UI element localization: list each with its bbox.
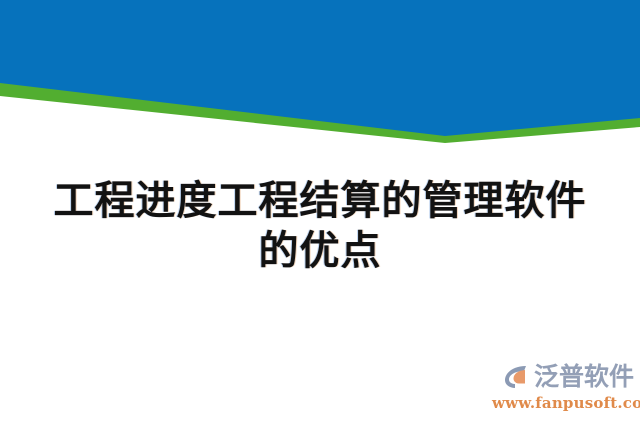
page-title-line-1: 工程进度工程结算的管理软件 [0,176,640,226]
banner-blue-chevron [0,0,640,136]
brand-watermark: 泛普软件 www.fanpusoft.com [492,361,634,417]
page-title-line-2: 的优点 [0,226,640,276]
slide-canvas: 工程进度工程结算的管理软件 的优点 泛普软件 www.fanpusoft.com [0,0,640,427]
brand-name: 泛普软件 [534,363,634,391]
banner-green-stripe [0,0,640,143]
fanpu-crescent-logo-icon [501,363,531,391]
top-chevron-banner [0,0,640,150]
brand-url: www.fanpusoft.com [492,393,634,413]
page-title: 工程进度工程结算的管理软件 的优点 [0,176,640,276]
brand-logo-row: 泛普软件 [492,361,634,393]
